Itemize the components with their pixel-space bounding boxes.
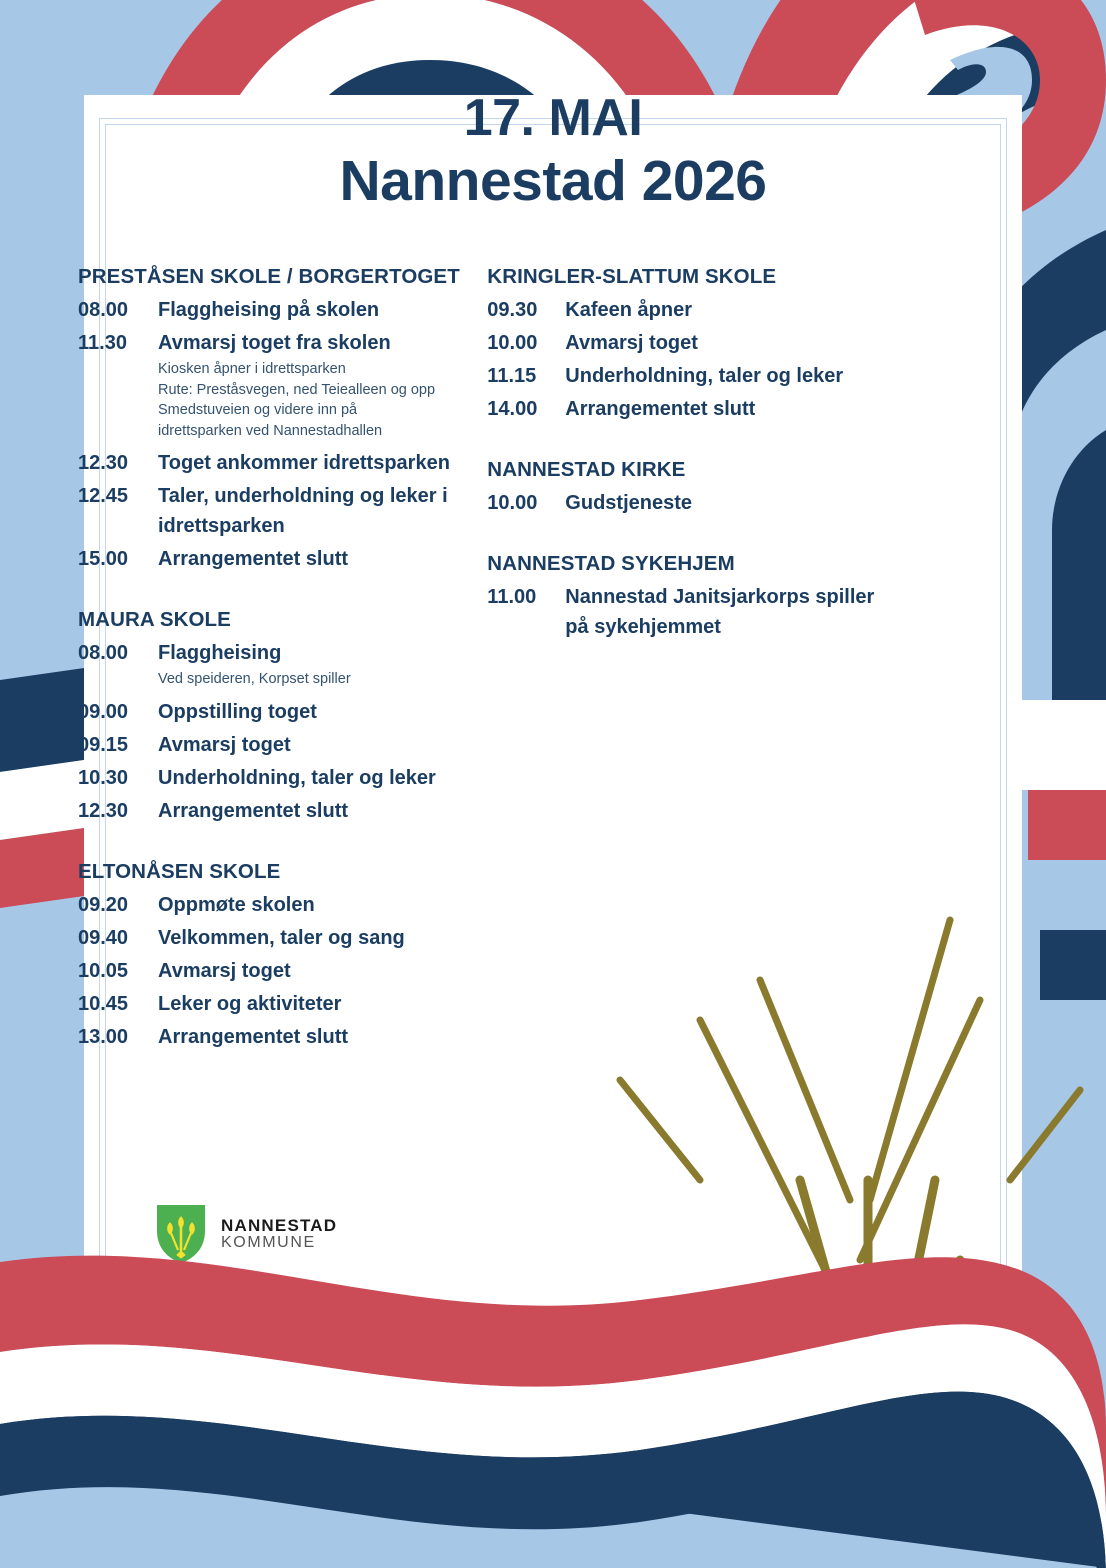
decorative-ribbon-bottom bbox=[0, 0, 1106, 1568]
poster-canvas: 17. MAI Nannestad 2026 PRESTÅSEN SKOLE /… bbox=[0, 0, 1106, 1568]
